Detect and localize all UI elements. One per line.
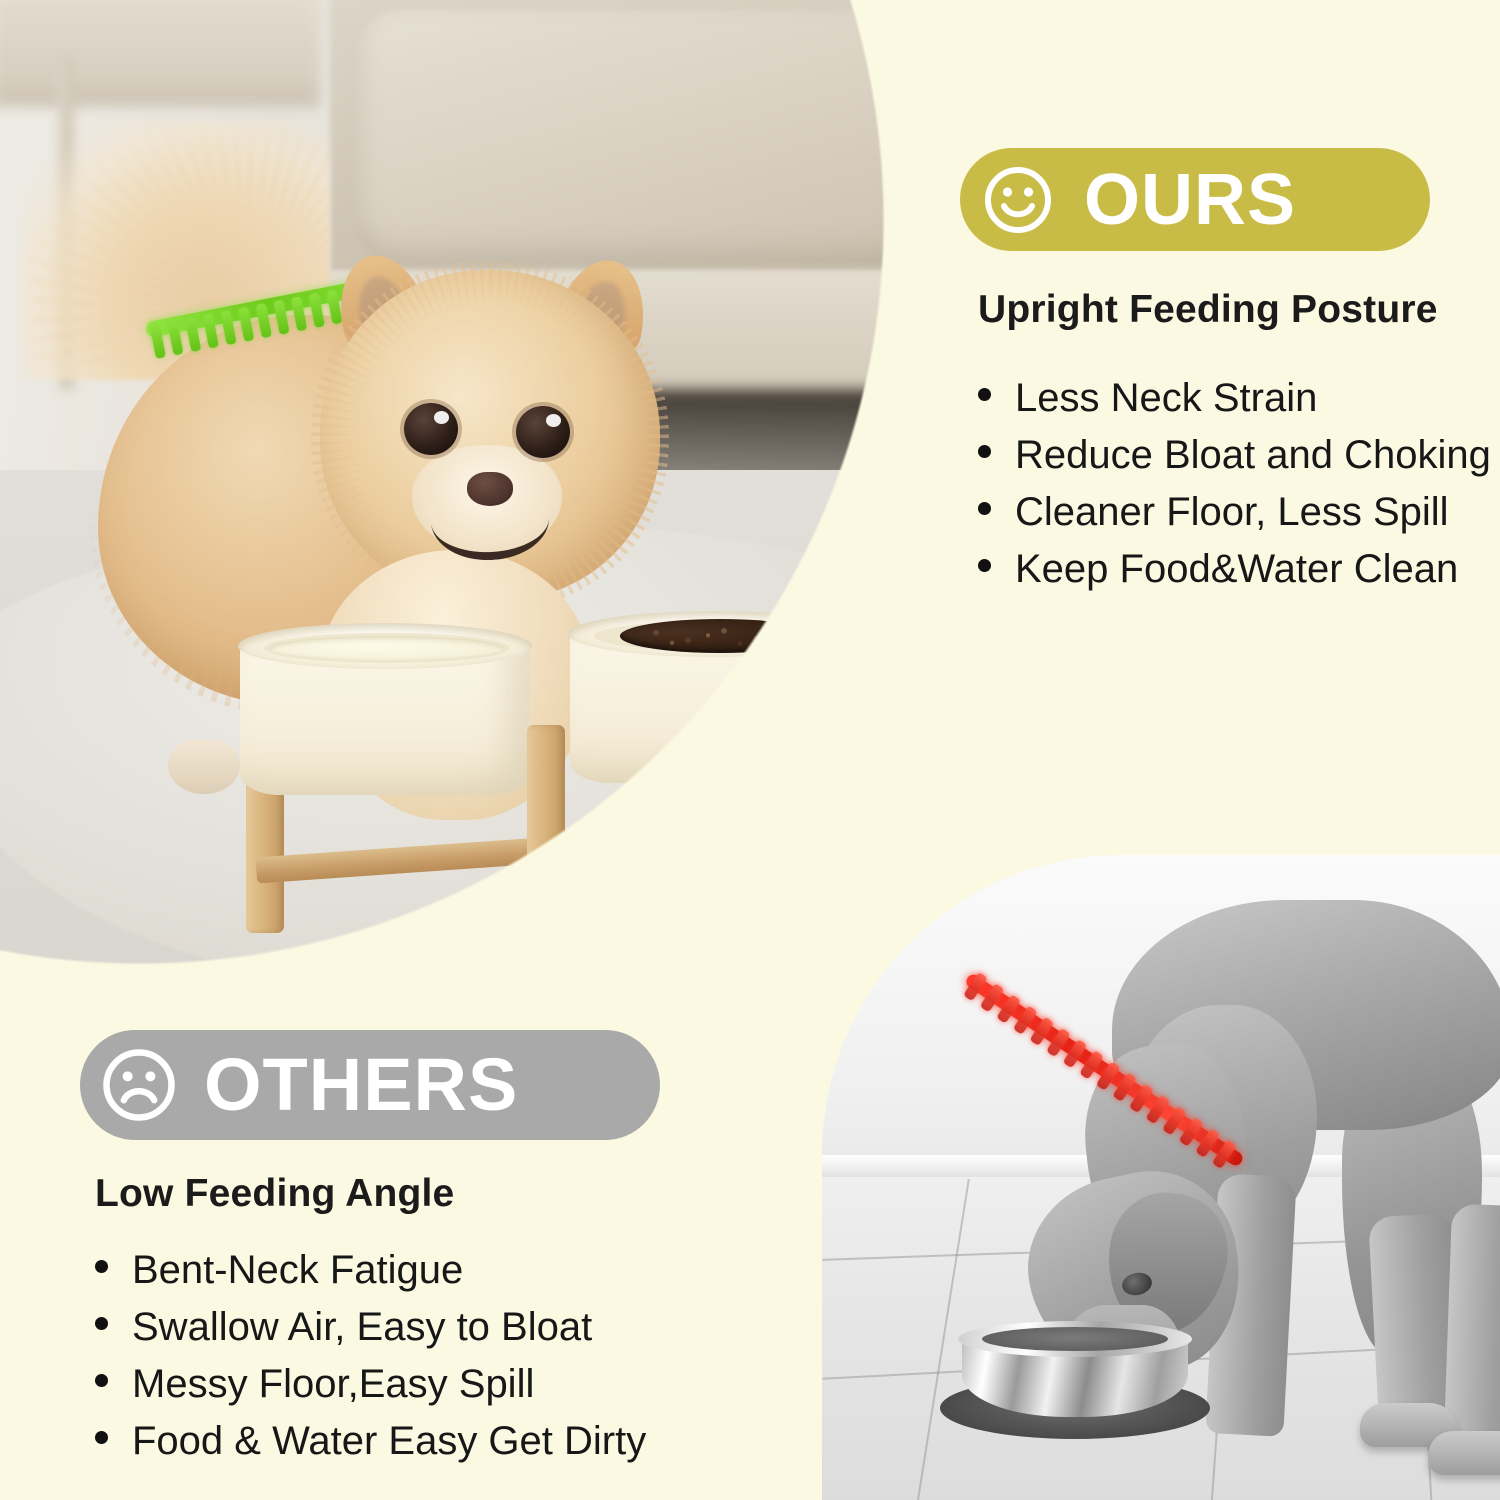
stand-crossrail <box>255 837 556 884</box>
list-item: Messy Floor,Easy Spill <box>95 1364 646 1404</box>
water-bowl <box>240 645 530 795</box>
list-item: Swallow Air, Easy to Bloat <box>95 1307 646 1347</box>
ours-subheading: Upright Feeding Posture <box>978 288 1438 332</box>
bowl-interior <box>982 1327 1168 1351</box>
bullet-dot-icon <box>95 1260 108 1273</box>
list-item: Bent-Neck Fatigue <box>95 1250 646 1290</box>
list-item: Cleaner Floor, Less Spill <box>978 492 1491 532</box>
list-item-label: Bent-Neck Fatigue <box>132 1250 463 1290</box>
others-subheading: Low Feeding Angle <box>95 1172 454 1216</box>
stand-leg-center <box>527 725 565 905</box>
comparison-infographic: OURS Upright Feeding Posture Less Neck S… <box>0 0 1500 1500</box>
list-item-label: Reduce Bloat and Choking <box>1015 435 1491 475</box>
list-item: Keep Food&Water Clean <box>978 549 1491 589</box>
ours-photo-scene <box>0 0 905 975</box>
sad-face-icon <box>100 1046 178 1124</box>
dog-hind-leg <box>1444 1204 1500 1442</box>
food-bowl <box>570 633 860 783</box>
list-item-label: Food & Water Easy Get Dirty <box>132 1421 646 1461</box>
floor-level-steel-bowl <box>940 1325 1210 1445</box>
others-drawback-list: Bent-Neck Fatigue Swallow Air, Easy to B… <box>95 1250 646 1478</box>
list-item-label: Messy Floor,Easy Spill <box>132 1364 534 1404</box>
dog-paw <box>1428 1431 1500 1475</box>
list-item: Reduce Bloat and Choking <box>978 435 1491 475</box>
list-item: Less Neck Strain <box>978 378 1491 418</box>
ours-benefit-list: Less Neck Strain Reduce Bloat and Chokin… <box>978 378 1491 606</box>
dog-eye-right <box>516 406 570 458</box>
dog-eye-left <box>404 403 458 455</box>
ours-badge: OURS <box>960 148 1430 251</box>
smiley-face-icon <box>982 164 1054 236</box>
bullet-dot-icon <box>978 502 991 515</box>
others-badge-label: OTHERS <box>204 1048 518 1122</box>
bullet-dot-icon <box>95 1374 108 1387</box>
ours-product-photo <box>0 0 905 975</box>
others-badge: OTHERS <box>80 1030 660 1140</box>
door-frame <box>0 0 320 107</box>
bullet-dot-icon <box>978 559 991 572</box>
bullet-dot-icon <box>978 388 991 401</box>
dog-nose <box>467 472 513 506</box>
list-item-label: Swallow Air, Easy to Bloat <box>132 1307 592 1347</box>
elevated-bowl-stand <box>230 615 870 945</box>
bullet-dot-icon <box>978 445 991 458</box>
ours-badge-label: OURS <box>1084 164 1296 236</box>
bullet-dot-icon <box>95 1317 108 1330</box>
list-item-label: Keep Food&Water Clean <box>1015 549 1458 589</box>
list-item: Food & Water Easy Get Dirty <box>95 1421 646 1461</box>
dog-food-kibble <box>620 619 820 653</box>
list-item-label: Less Neck Strain <box>1015 378 1317 418</box>
list-item-label: Cleaner Floor, Less Spill <box>1015 492 1449 532</box>
bullet-dot-icon <box>95 1431 108 1444</box>
others-comparison-photo <box>822 855 1500 1500</box>
bowl-water <box>270 636 504 660</box>
